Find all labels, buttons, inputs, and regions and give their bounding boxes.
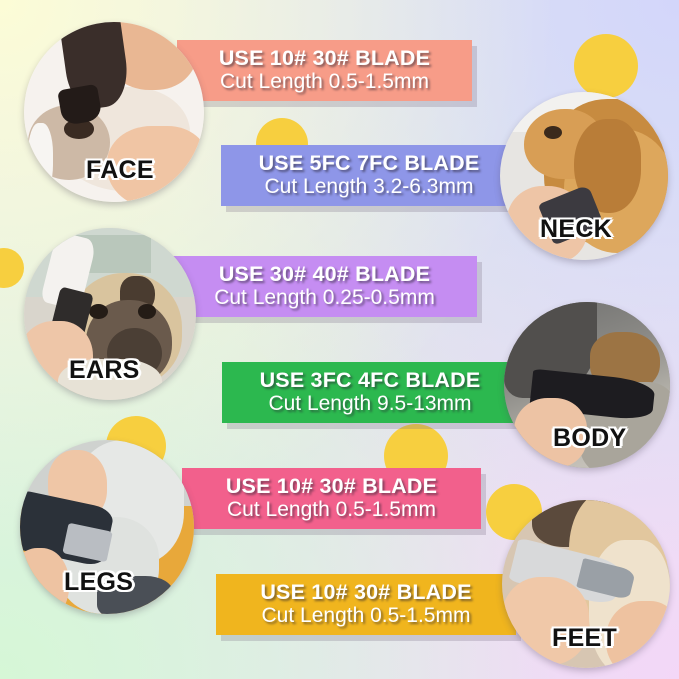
photo-circle-neck: NECK xyxy=(500,92,668,260)
banner-legs-blade-line: USE 10# 30# BLADE xyxy=(198,475,465,498)
banner-face-cut-length-line: Cut Length 0.5-1.5mm xyxy=(193,71,456,93)
banner-body: USE 3FC 4FC BLADECut Length 9.5-13mm xyxy=(222,362,518,423)
banner-feet-cut-length-line: Cut Length 0.5-1.5mm xyxy=(232,605,500,627)
banner-face-blade-line: USE 10# 30# BLADE xyxy=(193,47,456,70)
photo-label-feet: FEET xyxy=(552,624,617,653)
banner-neck-blade-line: USE 5FC 7FC BLADE xyxy=(237,152,501,175)
banner-feet-blade-line: USE 10# 30# BLADE xyxy=(232,581,500,604)
banner-feet: USE 10# 30# BLADECut Length 0.5-1.5mm xyxy=(216,574,516,635)
infographic-canvas: FACENECKEARSBODYLEGSFEET USE 10# 30# BLA… xyxy=(0,0,679,679)
banner-ears: USE 30# 40# BLADECut Length 0.25-0.5mm xyxy=(172,256,477,317)
photo-circle-legs: LEGS xyxy=(20,440,194,614)
banner-legs: USE 10# 30# BLADECut Length 0.5-1.5mm xyxy=(182,468,481,529)
photo-label-ears: EARS xyxy=(69,356,140,385)
banner-ears-cut-length-line: Cut Length 0.25-0.5mm xyxy=(188,287,461,309)
banner-body-cut-length-line: Cut Length 9.5-13mm xyxy=(238,393,502,415)
photo-label-face: FACE xyxy=(86,156,154,185)
banner-body-blade-line: USE 3FC 4FC BLADE xyxy=(238,369,502,392)
photo-label-neck: NECK xyxy=(540,215,612,244)
photo-circle-ears: EARS xyxy=(24,228,196,400)
dot-top-right xyxy=(574,34,638,98)
banner-neck-cut-length-line: Cut Length 3.2-6.3mm xyxy=(237,176,501,198)
photo-label-legs: LEGS xyxy=(64,568,133,597)
photo-label-body: BODY xyxy=(553,424,626,453)
photo-circle-feet: FEET xyxy=(502,500,670,668)
photo-circle-body: BODY xyxy=(504,302,670,468)
banner-neck: USE 5FC 7FC BLADECut Length 3.2-6.3mm xyxy=(221,145,517,206)
banner-legs-cut-length-line: Cut Length 0.5-1.5mm xyxy=(198,499,465,521)
banner-face: USE 10# 30# BLADECut Length 0.5-1.5mm xyxy=(177,40,472,101)
photo-circle-face: FACE xyxy=(24,22,204,202)
banner-ears-blade-line: USE 30# 40# BLADE xyxy=(188,263,461,286)
